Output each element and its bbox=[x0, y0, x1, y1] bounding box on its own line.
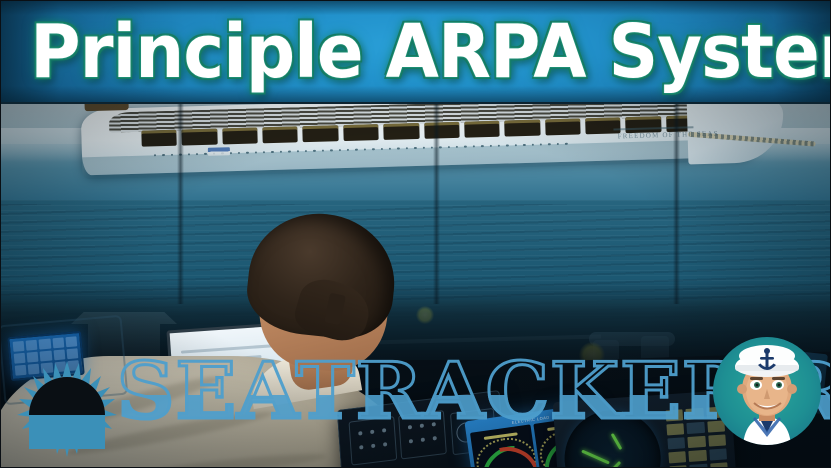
ship-flag bbox=[208, 147, 230, 156]
left-keypad-panel[interactable] bbox=[7, 331, 85, 381]
ship-funnel bbox=[84, 104, 128, 111]
console-button-group[interactable] bbox=[349, 416, 398, 466]
console-button-group[interactable] bbox=[398, 410, 447, 460]
right-console-panel[interactable] bbox=[740, 346, 828, 414]
radar-keypad[interactable] bbox=[665, 406, 730, 468]
title-banner: Principle ARPA System bbox=[1, 1, 831, 104]
bridge-photo: FREEDOM OF THE SEAS bbox=[1, 104, 831, 468]
radar-scope bbox=[561, 407, 663, 468]
window-mullion bbox=[673, 104, 680, 304]
gauge-left bbox=[470, 424, 538, 468]
radar-unit[interactable] bbox=[553, 390, 740, 468]
screenshot-root: Principle ARPA System bbox=[0, 0, 831, 468]
page-title: Principle ARPA System bbox=[30, 3, 803, 101]
